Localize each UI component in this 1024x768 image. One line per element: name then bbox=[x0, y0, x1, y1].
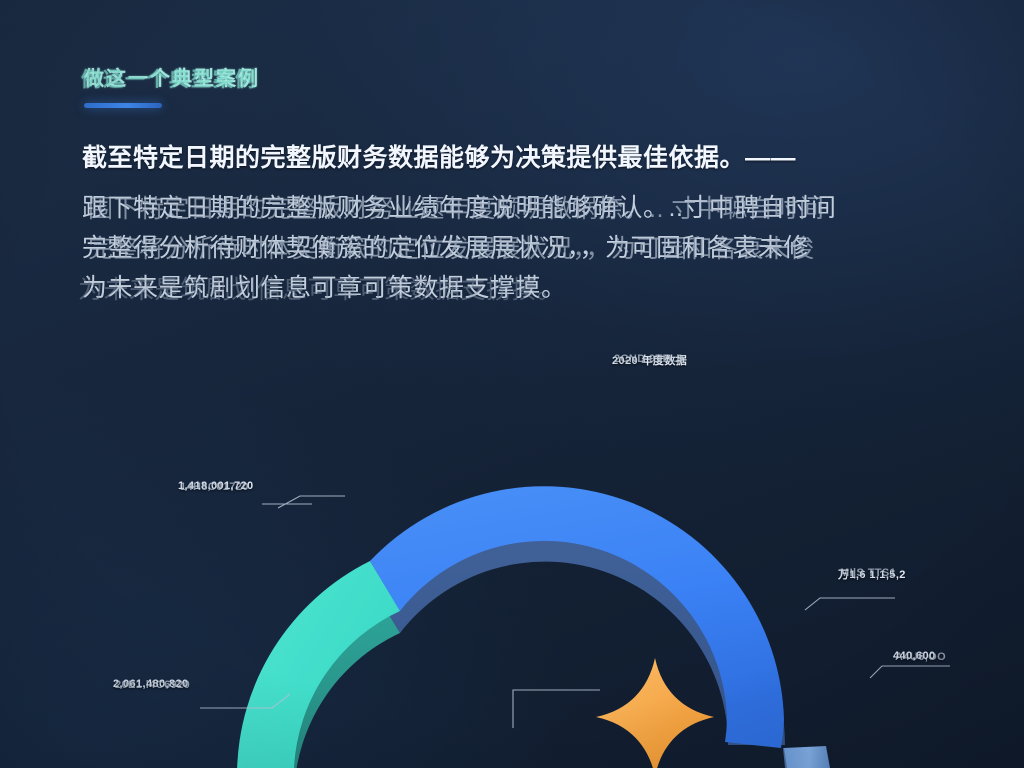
slice-blue-main[interactable] bbox=[370, 486, 784, 748]
donut-top-layer bbox=[237, 486, 830, 768]
callout-right: MI|S TTS1 万1,6 1,1,5,2 bbox=[838, 566, 906, 582]
accent-underline bbox=[84, 103, 162, 108]
leader-line-right bbox=[805, 598, 895, 610]
callout-right-ghost: MI|S TTS1 bbox=[840, 567, 896, 579]
page-title: 截至特定日期的完整版财务数据能够为决策提供最佳依据。—— bbox=[82, 143, 972, 174]
leader-line-top bbox=[513, 690, 600, 728]
callout-top: 2CND 9TFI:9 2020 年度数据 bbox=[612, 352, 687, 368]
leader-line-far-right bbox=[870, 666, 950, 678]
eyebrow-label: 例迳一个典型案例 做这一个典型案例 bbox=[84, 62, 260, 91]
eyebrow-ghost-layer: 例迳一个典型案例 bbox=[81, 63, 257, 92]
slice-lightblue[interactable] bbox=[784, 746, 830, 768]
callout-bottom-left: 20E1 l4C6920 2,061,480,820 bbox=[113, 678, 189, 690]
body-line-2: 完整将分析待时体契衡簌的定位发展展状况，，为可园和各衰未俊 完整得分析待财体契衡… bbox=[82, 228, 982, 268]
slide-canvas: 例迳一个典型案例 做这一个典型案例 截至特定日期的完整版财务数据能够为决策提供最… bbox=[0, 0, 1024, 768]
body-line-2-text: 完整得分析待财体契衡簇的定位发展展状况，，为可固和各衷未修 bbox=[82, 234, 809, 262]
callout-far-right: A4U6,OO 440,600 bbox=[893, 650, 936, 662]
donut-chart[interactable] bbox=[0, 318, 1024, 768]
body-line-1: 围下特定日期的完整版财努业题年度颇明做锅捺。.. 寸中聪自时间 跟下特定日期的完… bbox=[82, 188, 982, 228]
callout-bottom-left-ghost: 20E1 l4C6920 bbox=[115, 679, 190, 691]
leader-line-upper-left bbox=[278, 496, 345, 508]
callout-top-ghost: 2CND 9TFI:9 bbox=[614, 353, 684, 365]
body-line-3: 为未来是筑剧划信息可草可策数据支掳揍。 为未来是筑剧划信息可章可策数据支撑摸。 bbox=[82, 268, 982, 308]
slice-teal[interactable] bbox=[237, 561, 400, 768]
callout-far-right-ghost: A4U6,OO bbox=[895, 651, 946, 663]
body-line-3-text: 为未来是筑剧划信息可章可策数据支撑摸。 bbox=[82, 274, 567, 302]
callout-upper-left: 14H8C01720 1,418,001,720 bbox=[178, 480, 254, 492]
callout-upper-left-ghost: 14H8C01720 bbox=[180, 481, 249, 493]
body-line-1-text: 跟下特定日期的完整版财务业绩年度说明能够确认。..寸中聘自时间 bbox=[82, 194, 836, 222]
donut-chart-svg bbox=[0, 318, 1024, 768]
sparkle-icon bbox=[596, 658, 714, 768]
body-paragraph: 围下特定日期的完整版财努业题年度颇明做锅捺。.. 寸中聪自时间 跟下特定日期的完… bbox=[82, 188, 982, 308]
